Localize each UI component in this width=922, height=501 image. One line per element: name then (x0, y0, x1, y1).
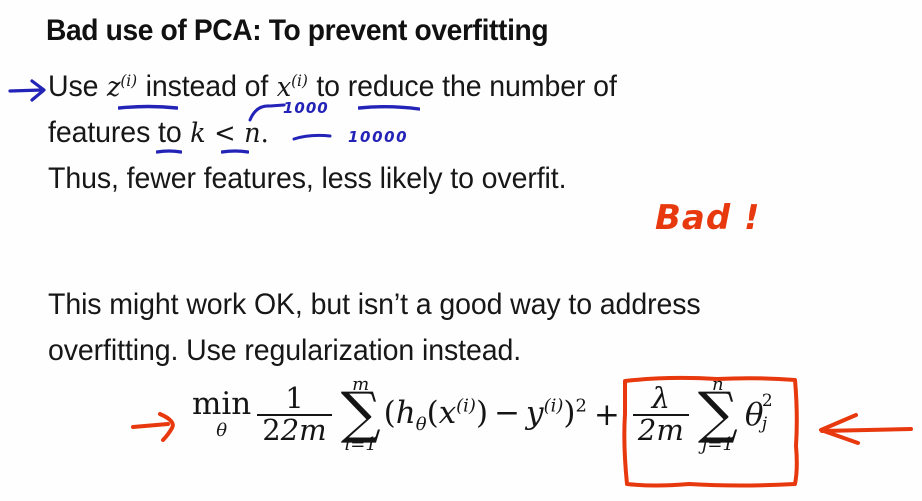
body-line-1: Usez(i)instead ofx(i)to reduce the numbe… (48, 70, 617, 104)
blue-leader-line-n (292, 128, 332, 146)
red-annotation-bad: Bad ! (655, 198, 761, 238)
slide-canvas: Bad use of PCA: To prevent overfitting U… (0, 0, 922, 501)
squared-error-term: (hθ(x(i))−y(i))2 (384, 395, 587, 435)
theta-squared-term: θ 2 j (745, 397, 764, 433)
period-mark: . (261, 118, 269, 149)
variable-z: z(i) (107, 72, 137, 103)
red-arrow-right-icon (130, 408, 190, 450)
line1-mid-text: instead of (146, 70, 269, 103)
cost-function-equation: min θ 1 22m2m m ∑ i=1 (hθ(x(i))−y(i))2 +… (192, 376, 763, 454)
blue-underline-n (221, 148, 249, 156)
red-arrow-left-icon (812, 405, 914, 457)
body-line-3: Thus, fewer features, less likely to ove… (48, 162, 566, 196)
blue-annotation-n-value: 10000 (348, 128, 408, 146)
blue-leader-line-k (248, 100, 286, 122)
blue-underline-z (118, 104, 178, 112)
less-than-operator: < (214, 118, 235, 149)
plus-operator: + (594, 397, 620, 433)
fraction-lambda-over-2m: λ 2m (633, 384, 689, 445)
fraction-one-over-2m: 1 22m2m (257, 384, 331, 445)
body-line-5: overfitting. Use regularization instead. (48, 334, 521, 368)
blue-arrow-right-icon (8, 74, 54, 106)
blue-annotation-k-value: 1000 (283, 99, 329, 117)
line1-post-text: to reduce the number of (316, 70, 616, 103)
summation-over-j: n ∑ j=1 (698, 376, 738, 454)
line1-pre-text: Use (48, 70, 98, 103)
body-line-2: features tok<n. (48, 116, 269, 150)
body-line-4: This might work OK, but isn’t a good way… (48, 288, 701, 322)
line2-pre-text: features to (48, 116, 182, 149)
variable-k: k (190, 118, 205, 149)
page-title: Bad use of PCA: To prevent overfitting (46, 14, 548, 48)
summation-over-i: m ∑ i=1 (341, 376, 381, 454)
blue-underline-x (358, 104, 420, 112)
min-operator: min θ (192, 389, 251, 440)
blue-underline-k (156, 148, 182, 156)
variable-n: n (244, 118, 260, 149)
